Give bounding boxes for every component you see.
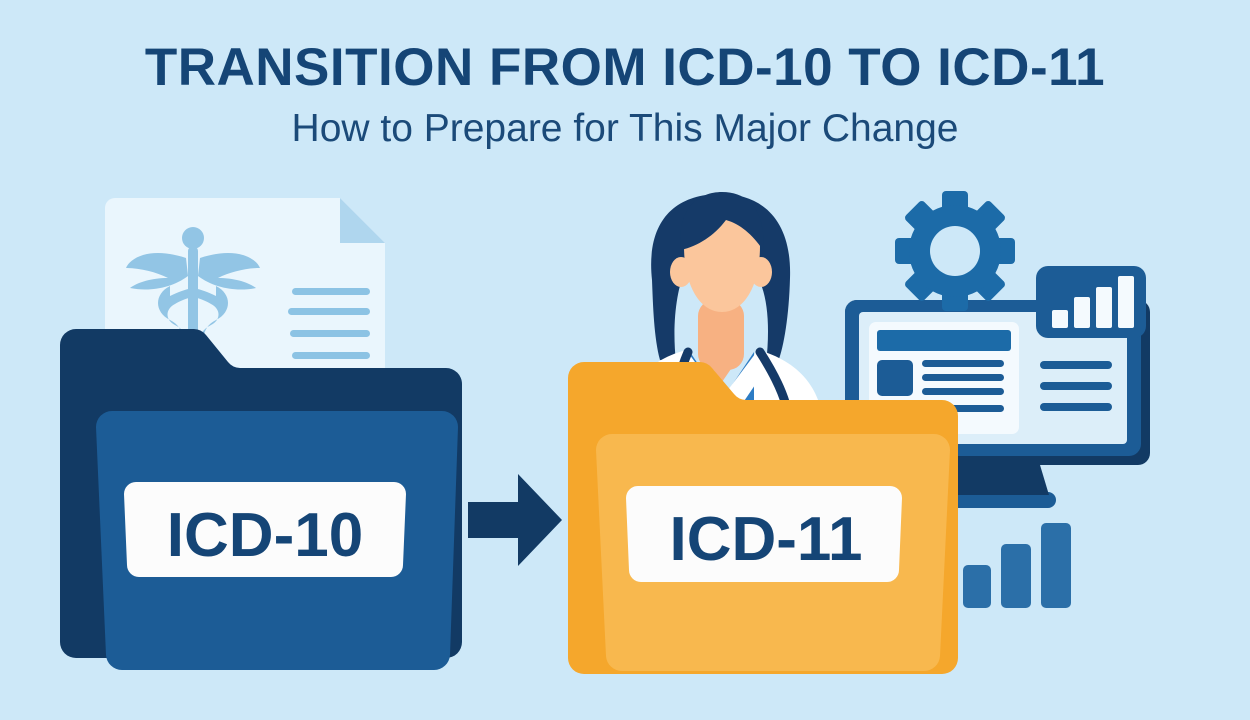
arrow-right-icon [468,474,562,566]
chart-card-bar [1074,297,1090,328]
chart-card-bar [1118,276,1134,328]
folder-icd10-label: ICD-10 [167,501,363,570]
bar-chart-bar [1001,544,1031,608]
chart-card-bar [1052,310,1068,328]
heading-block: TRANSITION FROM ICD-10 TO ICD-11 How to … [0,40,1250,151]
screen-line [1040,382,1112,390]
document-line [290,330,370,337]
folder-icd10[interactable]: ICD-10 [60,329,462,670]
screen-header-bar [877,330,1011,351]
document-line [292,288,370,295]
screen-thumbnail [877,360,913,396]
screen-line [1040,403,1112,411]
chart-card-bar [1096,287,1112,328]
screen-text-lines-right [1040,361,1112,411]
screen-line [1040,361,1112,369]
document-fold-icon [340,198,385,243]
document-line [288,308,370,315]
gear-hole [930,226,980,276]
transition-arrow [468,474,562,566]
page-subtitle: How to Prepare for This Major Change [0,108,1250,151]
infographic-canvas: TRANSITION FROM ICD-10 TO ICD-11 How to … [0,0,1250,720]
document-line [292,352,370,359]
growth-bar-chart [963,523,1071,608]
folder-icd11[interactable]: ICD-11 [568,362,958,674]
screen-line [922,374,1004,381]
settings-gear-icon [895,191,1015,311]
bar-chart-bar [1041,523,1071,608]
folder-icd11-label: ICD-11 [670,505,863,574]
screen-line [922,360,1004,367]
page-title: TRANSITION FROM ICD-10 TO ICD-11 [0,40,1250,96]
analytics-chart-card [1036,266,1146,338]
bar-chart-bar [963,565,991,608]
screen-line [922,388,1004,395]
